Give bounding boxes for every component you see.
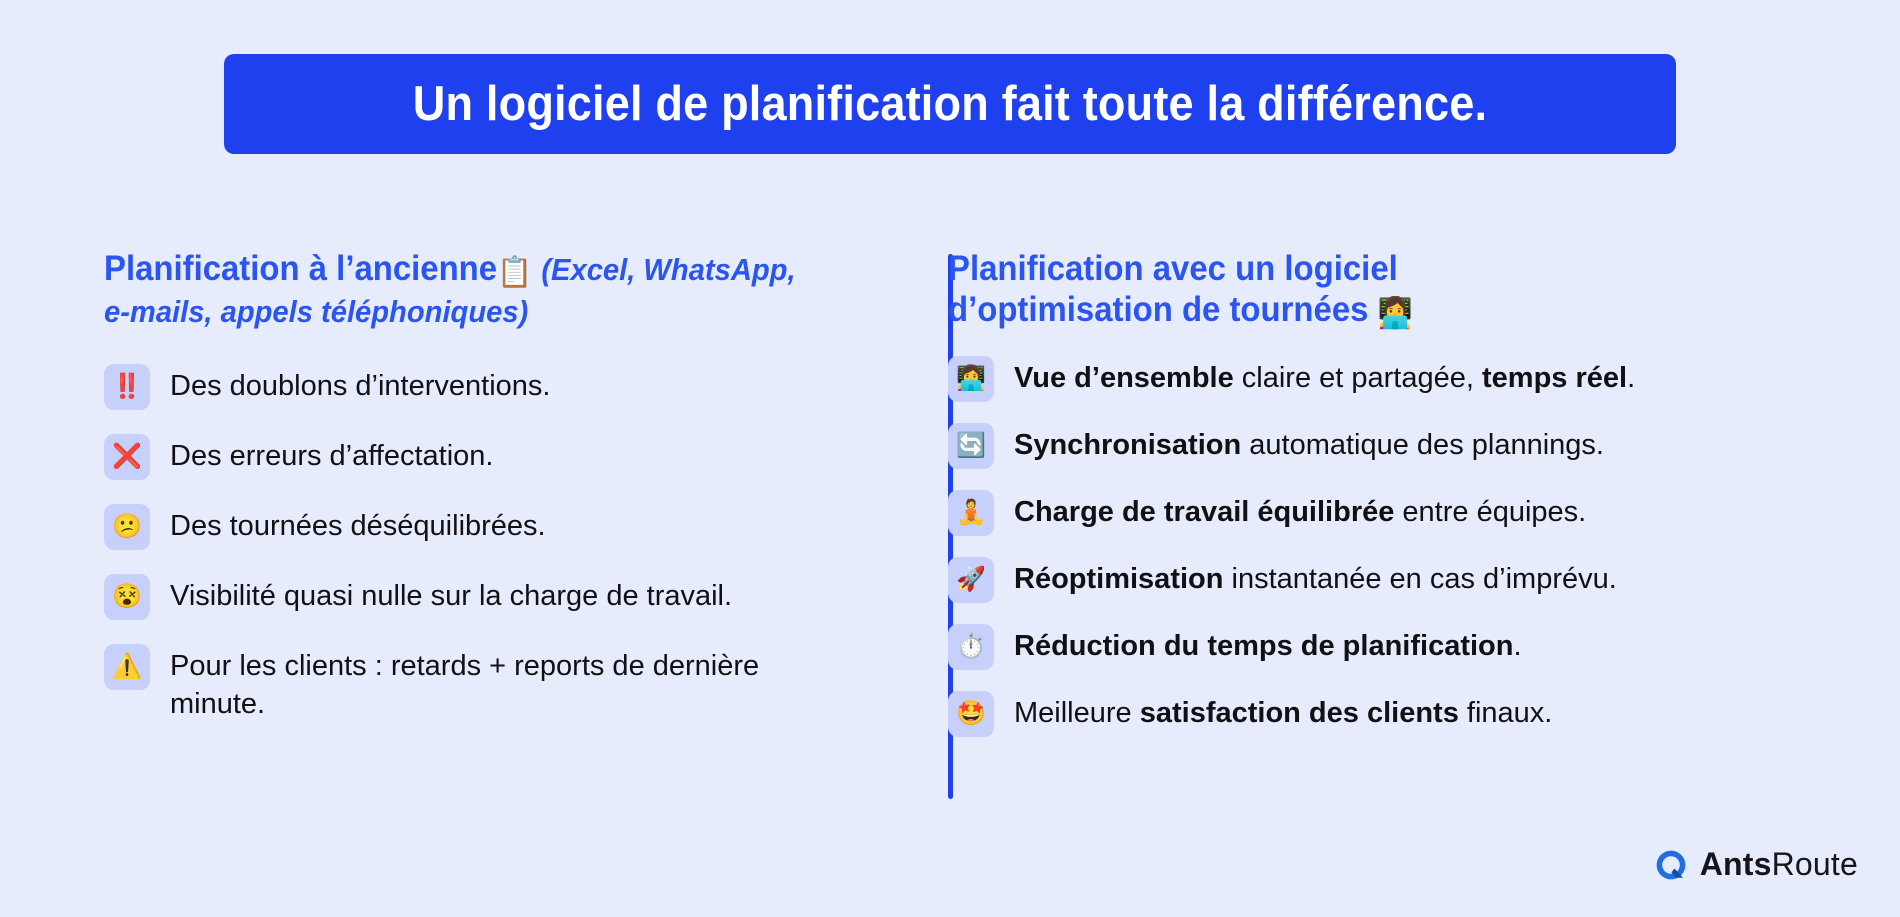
right-column-heading: Planification avec un logiciel d’optimis… [948,248,1805,332]
list-item-text-plain: entre équipes. [1394,496,1586,528]
list-item-text: Pour les clients : retards + reports de … [170,642,860,724]
list-item-text-strong: Charge de travail équilibrée [1014,496,1394,528]
list-item: ⏱️Réduction du temps de planification. [948,622,1860,670]
list-item-text: Des tournées déséquilibrées. [170,502,546,545]
stopwatch-icon: ⏱️ [948,624,994,670]
list-item-text-strong: temps réel [1482,362,1627,394]
rocket-icon: 🚀 [948,557,994,603]
logo-name-bold: Ants [1700,846,1772,882]
list-item-text: Des doublons d’interventions. [170,362,550,405]
list-item-text-strong: satisfaction des clients [1140,697,1459,729]
list-item-text-strong: Vue d’ensemble [1014,362,1234,394]
list-item: 😕Des tournées déséquilibrées. [104,502,860,550]
left-column: Planification à l’ancienne📋 (Excel, What… [0,248,880,756]
left-column-heading: Planification à l’ancienne📋 (Excel, What… [104,248,815,332]
list-item-text-plain: Meilleure [1014,697,1140,729]
warning-sign-icon: ⚠️ [104,644,150,690]
list-item: 😵Visibilité quasi nulle sur la charge de… [104,572,860,620]
right-heading-line2: d’optimisation de tournées [948,290,1368,329]
technologist-emoji: 👩‍💻 [1378,297,1413,330]
right-heading-line1: Planification avec un logiciel [948,249,1398,288]
sync-arrows-icon: 🔄 [948,423,994,469]
list-item-text-plain: finaux. [1459,697,1553,729]
page-title: Un logiciel de planification fait toute … [413,80,1487,129]
list-item-text-plain: automatique des plannings. [1241,429,1604,461]
left-item-list: ‼️Des doublons d’interventions.❌Des erre… [104,362,860,724]
list-item: ‼️Des doublons d’interventions. [104,362,860,410]
balance-meditation-icon: 🧘 [948,490,994,536]
cross-mark-icon: ❌ [104,434,150,480]
comparison-columns: Planification à l’ancienne📋 (Excel, What… [0,248,1900,756]
list-item-text: Visibilité quasi nulle sur la charge de … [170,572,732,615]
list-item-text-strong: Réduction du temps de planification [1014,630,1513,662]
list-item-text: Vue d’ensemble claire et partagée, temps… [1014,354,1635,397]
list-item: 🤩Meilleure satisfaction des clients fina… [948,689,1860,737]
confused-face-icon: 😕 [104,504,150,550]
antsroute-logo-text: AntsRoute [1700,846,1858,883]
list-item-text: Réoptimisation instantanée en cas d’impr… [1014,555,1617,598]
antsroute-logo: AntsRoute [1654,846,1858,883]
list-item-text: Synchronisation automatique des planning… [1014,421,1604,464]
list-item-text-strong: Synchronisation [1014,429,1241,461]
list-item-text: Meilleure satisfaction des clients finau… [1014,689,1552,732]
right-column: Planification avec un logiciel d’optimis… [880,248,1900,756]
list-item: ⚠️Pour les clients : retards + reports d… [104,642,860,724]
list-item-text-plain: . [1627,362,1635,394]
left-heading-main: Planification à l’ancienne [104,249,497,288]
clipboard-emoji: 📋 [497,256,532,289]
list-item-text-plain: claire et partagée, [1234,362,1482,394]
technologist-icon: 👩‍💻 [948,356,994,402]
list-item-text: Réduction du temps de planification. [1014,622,1522,665]
star-struck-face-icon: 🤩 [948,691,994,737]
list-item-text: Charge de travail équilibrée entre équip… [1014,488,1586,531]
list-item-text-plain: . [1513,630,1521,662]
logo-name-light: Route [1772,846,1858,882]
header-banner: Un logiciel de planification fait toute … [224,54,1676,154]
right-item-list: 👩‍💻Vue d’ensemble claire et partagée, te… [948,354,1860,737]
antsroute-logo-icon [1654,848,1688,882]
list-item: ❌Des erreurs d’affectation. [104,432,860,480]
list-item-text-plain: instantanée en cas d’imprévu. [1223,563,1616,595]
dizzy-face-icon: 😵 [104,574,150,620]
list-item-text: Des erreurs d’affectation. [170,432,493,475]
double-exclamation-icon: ‼️ [104,364,150,410]
list-item: 🧘Charge de travail équilibrée entre équi… [948,488,1860,536]
infographic-poster: Un logiciel de planification fait toute … [0,0,1900,917]
list-item: 👩‍💻Vue d’ensemble claire et partagée, te… [948,354,1860,402]
list-item: 🔄Synchronisation automatique des plannin… [948,421,1860,469]
list-item: 🚀Réoptimisation instantanée en cas d’imp… [948,555,1860,603]
list-item-text-strong: Réoptimisation [1014,563,1223,595]
